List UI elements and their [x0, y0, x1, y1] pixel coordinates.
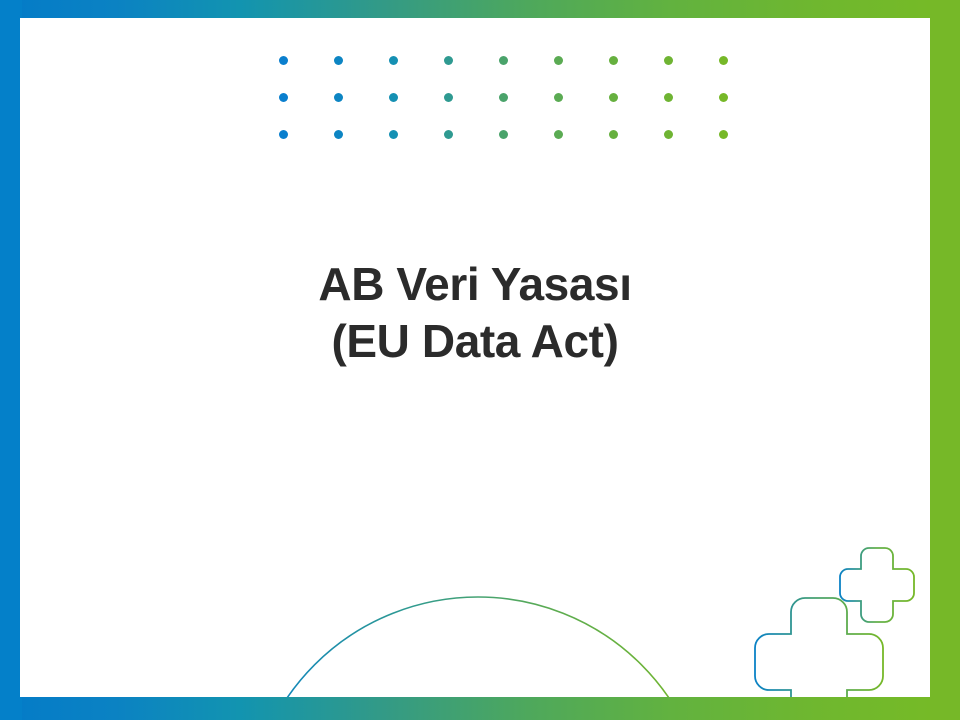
grid-dot	[609, 93, 618, 102]
grid-dot	[279, 93, 288, 102]
grid-dot	[499, 56, 508, 65]
grid-dot	[664, 56, 673, 65]
grid-dot	[554, 130, 563, 139]
plus-outline-large-icon	[755, 598, 883, 697]
slide-canvas: AB Veri Yasası (EU Data Act)	[0, 0, 960, 720]
left-blue-rail	[0, 0, 22, 720]
right-green-rail	[930, 0, 960, 720]
dot-grid-decoration	[255, 38, 703, 140]
grid-dot	[389, 130, 398, 139]
grid-dot	[719, 130, 728, 139]
grid-dot	[664, 93, 673, 102]
grid-dot	[719, 93, 728, 102]
title-line-secondary: (EU Data Act)	[20, 313, 930, 370]
grid-dot	[389, 56, 398, 65]
grid-dot	[444, 93, 453, 102]
grid-dot	[499, 130, 508, 139]
slide-content-card: AB Veri Yasası (EU Data Act)	[20, 18, 930, 697]
grid-dot	[664, 130, 673, 139]
page-title: AB Veri Yasası (EU Data Act)	[20, 256, 930, 370]
grid-dot	[609, 56, 618, 65]
grid-dot	[554, 56, 563, 65]
grid-dot	[279, 130, 288, 139]
grid-dot	[279, 56, 288, 65]
grid-dot	[499, 93, 508, 102]
grid-dot	[389, 93, 398, 102]
grid-dot	[719, 56, 728, 65]
grid-dot	[609, 130, 618, 139]
grid-dot	[334, 130, 343, 139]
gradient-arc-circle	[247, 597, 709, 697]
title-line-primary: AB Veri Yasası	[20, 256, 930, 313]
grid-dot	[554, 93, 563, 102]
plus-outline-small-icon	[840, 548, 914, 622]
grid-dot	[444, 56, 453, 65]
grid-dot	[334, 93, 343, 102]
grid-dot	[444, 130, 453, 139]
grid-dot	[334, 56, 343, 65]
